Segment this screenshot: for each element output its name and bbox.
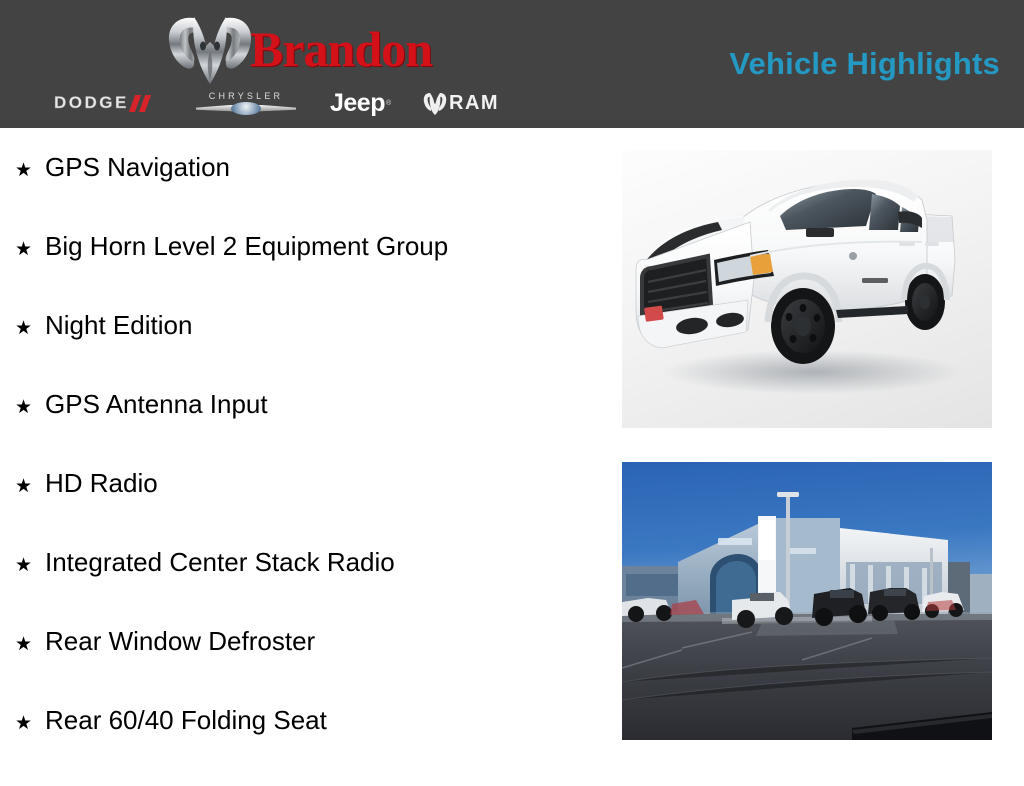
ram-head-icon: [164, 12, 256, 86]
jeep-registered-mark: ®: [386, 100, 391, 107]
list-item-label: Integrated Center Stack Radio: [45, 549, 395, 575]
star-bullet-icon: ★: [15, 398, 45, 417]
list-item: ★ Rear 60/40 Folding Seat: [0, 707, 600, 786]
list-item-label: Night Edition: [45, 312, 192, 338]
jeep-logo-icon: Jeep ®: [330, 88, 391, 118]
dealership-photo[interactable]: [622, 462, 992, 740]
dodge-slash-icon: [130, 95, 156, 112]
ram-head-small-icon: [422, 91, 448, 115]
ram-logo-icon: RAM: [422, 88, 499, 118]
list-item-label: Big Horn Level 2 Equipment Group: [45, 233, 448, 259]
chrysler-wings-icon: [196, 102, 296, 115]
star-bullet-icon: ★: [15, 556, 45, 575]
dealer-name: Brandon: [250, 24, 432, 74]
jeep-label: Jeep: [330, 91, 385, 116]
list-item-label: GPS Navigation: [45, 154, 230, 180]
dealership-illustration: [622, 462, 992, 740]
vehicle-photo[interactable]: [622, 150, 992, 428]
star-bullet-icon: ★: [15, 477, 45, 496]
list-item: ★ Rear Window Defroster: [0, 628, 600, 707]
brand-logo-strip: DODGE CHRYSLER Jeep ®: [46, 88, 536, 118]
list-item-label: Rear 60/40 Folding Seat: [45, 707, 327, 733]
chrysler-label: CHRYSLER: [209, 92, 283, 101]
dealer-logo[interactable]: Brandon DODGE CHRYSLER Jeep ®: [46, 8, 536, 120]
vehicle-highlights-list: ★ GPS Navigation ★ Big Horn Level 2 Equi…: [0, 128, 600, 768]
list-item: ★ GPS Antenna Input: [0, 391, 600, 470]
star-bullet-icon: ★: [15, 635, 45, 654]
list-item: ★ Integrated Center Stack Radio: [0, 549, 600, 628]
chrysler-logo-icon: CHRYSLER: [196, 88, 296, 118]
dodge-label: DODGE: [54, 93, 129, 113]
star-bullet-icon: ★: [15, 714, 45, 733]
star-bullet-icon: ★: [15, 240, 45, 259]
truck-illustration: [622, 150, 992, 428]
ram-label: RAM: [449, 93, 499, 113]
list-item: ★ Night Edition: [0, 312, 600, 391]
list-item: ★ HD Radio: [0, 470, 600, 549]
list-item-label: GPS Antenna Input: [45, 391, 268, 417]
list-item-label: HD Radio: [45, 470, 158, 496]
page-title: Vehicle Highlights: [729, 46, 1000, 82]
star-bullet-icon: ★: [15, 161, 45, 180]
list-item: ★ GPS Navigation: [0, 154, 600, 233]
list-item-label: Rear Window Defroster: [45, 628, 315, 654]
star-bullet-icon: ★: [15, 319, 45, 338]
header-bar: Brandon DODGE CHRYSLER Jeep ®: [0, 0, 1024, 128]
dodge-logo-icon: DODGE: [54, 88, 156, 118]
list-item: ★ Big Horn Level 2 Equipment Group: [0, 233, 600, 312]
